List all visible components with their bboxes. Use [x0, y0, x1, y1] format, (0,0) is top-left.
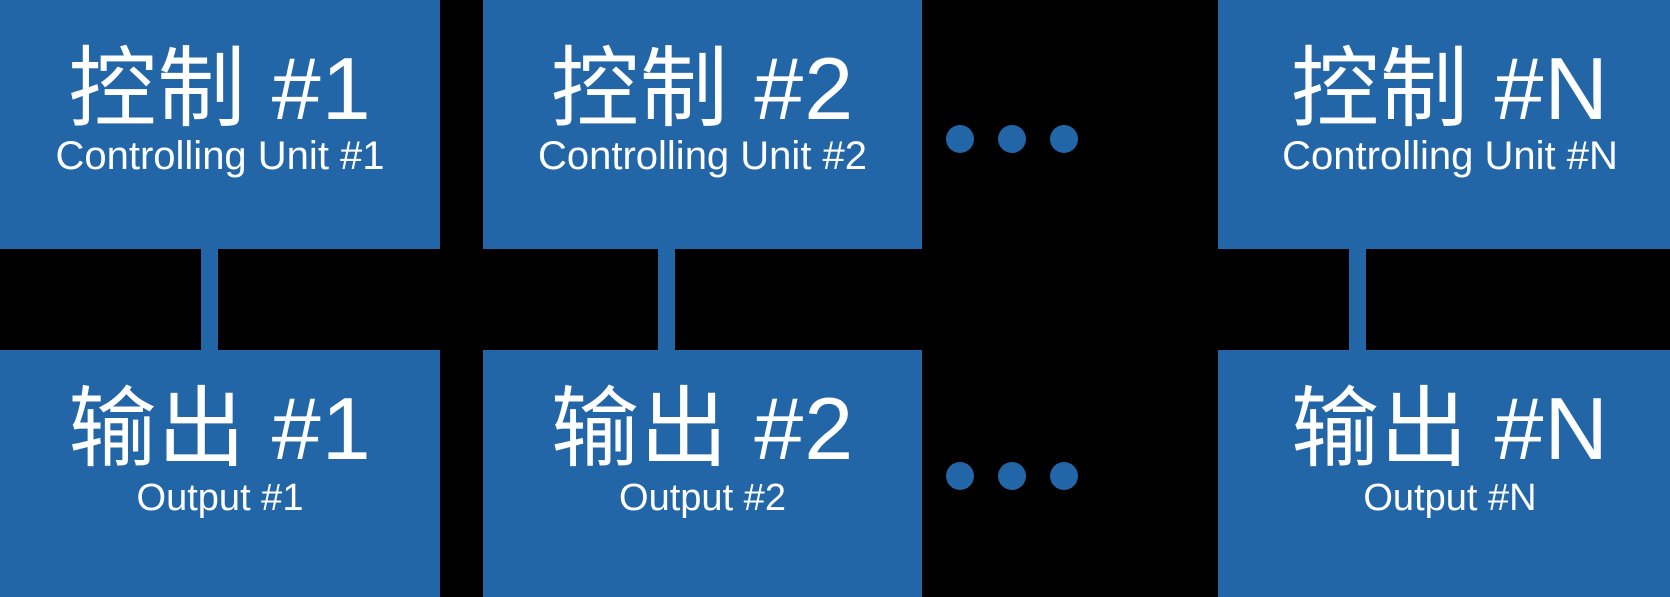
- ellipsis-dot-icon: [946, 462, 974, 490]
- controlling-unit-2-title-en: Controlling Unit #2: [538, 135, 867, 177]
- controlling-unit-1-title-en: Controlling Unit #1: [55, 135, 384, 177]
- connector-line-unit-1-to-output-1: [201, 228, 218, 358]
- controlling-unit-2-label-stack: 控制 #2 Controlling Unit #2: [538, 44, 867, 178]
- output-n-label-stack: 输出 #N Output #N: [1285, 384, 1603, 520]
- output-1-label-stack: 输出 #1 Output #1: [68, 384, 371, 520]
- controlling-unit-2-box[interactable]: 控制 #2 Controlling Unit #2: [483, 0, 922, 249]
- ellipsis-dot-icon: [998, 125, 1026, 153]
- output-2-title-en: Output #2: [619, 479, 786, 519]
- output-n-title-en: Output #N: [1363, 479, 1536, 519]
- connector-line-unit-2-to-output-2: [658, 228, 675, 358]
- controlling-unit-n-label-stack: 控制 #N Controlling Unit #N: [1276, 44, 1612, 178]
- ellipsis-dot-icon: [1050, 462, 1078, 490]
- block-diagram: 控制 #1 Controlling Unit #1 控制 #2 Controll…: [0, 0, 1670, 597]
- controlling-unit-2-title-cn: 控制 #2: [551, 44, 854, 134]
- output-2-label-stack: 输出 #2 Output #2: [551, 384, 854, 520]
- controlling-unit-1-title-cn: 控制 #1: [68, 44, 371, 134]
- ellipsis-dot-icon: [1050, 125, 1078, 153]
- output-1-title-en: Output #1: [137, 479, 304, 519]
- controlling-unit-n-title-cn: 控制 #N: [1291, 44, 1609, 134]
- output-2-title-cn: 输出 #2: [551, 384, 854, 474]
- controlling-unit-n-title-en: Controlling Unit #N: [1282, 135, 1618, 177]
- ellipsis-dot-icon: [998, 462, 1026, 490]
- output-n-title-cn: 输出 #N: [1291, 384, 1609, 474]
- ellipsis-dots-bottom-icon: [946, 462, 1078, 490]
- output-1-box[interactable]: 输出 #1 Output #1: [0, 350, 440, 597]
- controlling-unit-1-label-stack: 控制 #1 Controlling Unit #1: [55, 44, 384, 178]
- connector-line-unit-n-to-output-n: [1349, 228, 1366, 358]
- ellipsis-dots-top-icon: [946, 125, 1078, 153]
- ellipsis-dot-icon: [946, 125, 974, 153]
- output-n-box[interactable]: 输出 #N Output #N: [1218, 350, 1670, 597]
- output-2-box[interactable]: 输出 #2 Output #2: [483, 350, 922, 597]
- controlling-unit-1-box[interactable]: 控制 #1 Controlling Unit #1: [0, 0, 440, 249]
- output-1-title-cn: 输出 #1: [68, 384, 371, 474]
- controlling-unit-n-box[interactable]: 控制 #N Controlling Unit #N: [1218, 0, 1670, 249]
